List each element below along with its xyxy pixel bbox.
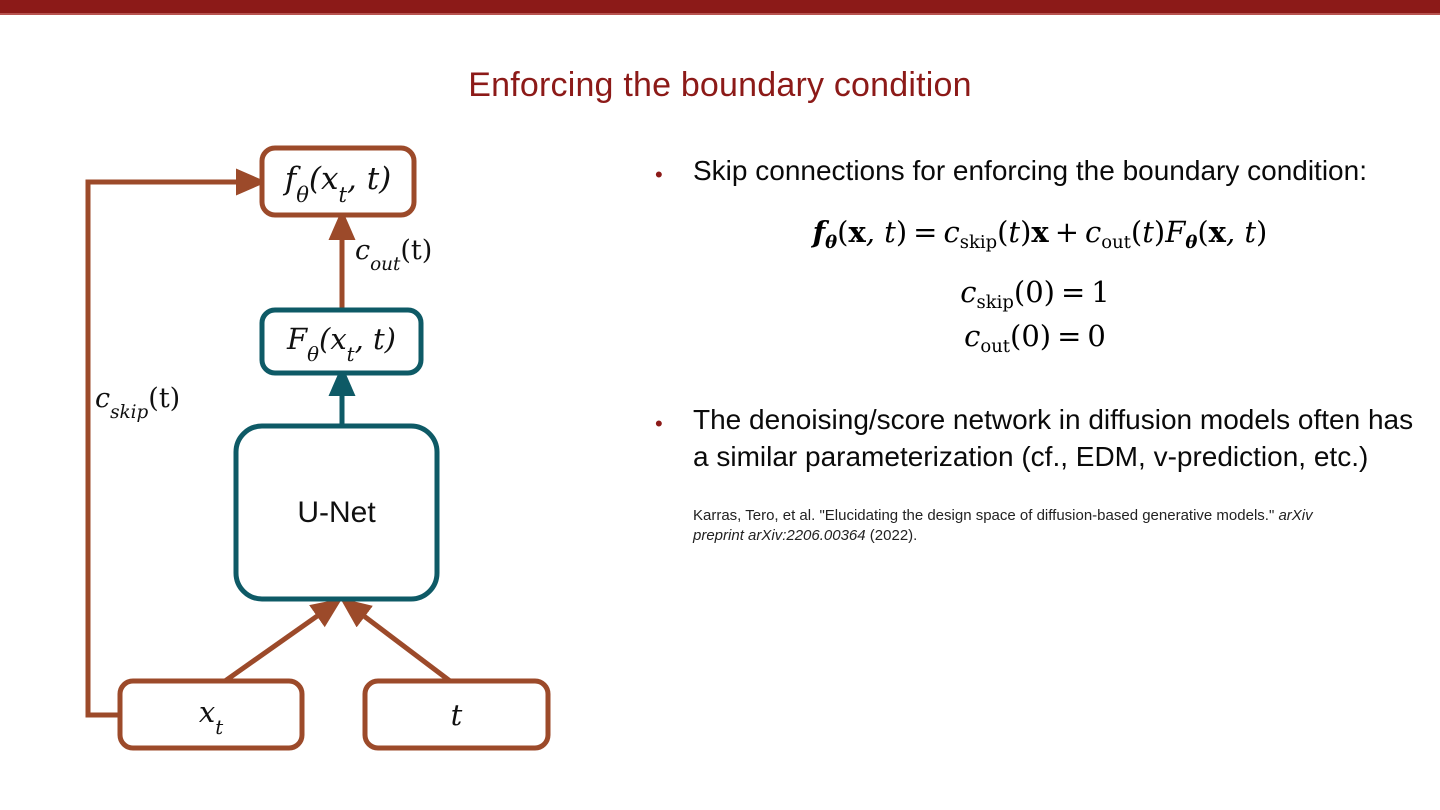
content-column: • Skip connections for enforcing the bou… (655, 152, 1415, 546)
equation-main: fθ(x, t)=cskip(t)x+cout(t)Fθ(x, t) (665, 215, 1415, 249)
node-unet-box (236, 426, 437, 599)
top-accent-bar (0, 0, 1440, 13)
diagram-svg (0, 130, 620, 780)
page-title: Enforcing the boundary condition (0, 66, 1440, 105)
edge-skip-path (88, 182, 120, 715)
bullet-dot-icon: • (655, 401, 693, 435)
node-f-theta-box (262, 148, 414, 215)
bullet-dot-icon: • (655, 152, 693, 186)
edge-label-c-skip: cskip(t) (95, 383, 180, 418)
edge-t-to-unet (352, 607, 450, 681)
bullet-1-text: Skip connections for enforcing the bound… (693, 152, 1415, 189)
edge-label-c-out: cout(t) (355, 235, 432, 270)
bullet-item-2: • The denoising/score network in diffusi… (655, 401, 1415, 475)
citation-text: Karras, Tero, et al. "Elucidating the de… (693, 506, 1343, 547)
equation-c-skip-zero: cskip(0)=1 (655, 275, 1415, 309)
citation-part2: (2022). (866, 527, 918, 544)
node-F-theta-box (262, 310, 421, 373)
node-t-box (365, 681, 548, 748)
edge-xt-to-unet (225, 607, 330, 681)
top-accent-bar-thin (0, 13, 1440, 15)
equation-c-out-zero: cout(0)=0 (655, 319, 1415, 353)
architecture-diagram: fθ(xt, t) Fθ(xt, t) U-Net xt t cout(t) c… (0, 130, 620, 780)
citation-part1: Karras, Tero, et al. "Elucidating the de… (693, 507, 1278, 524)
slide-root: Enforcing the boundary condition (0, 0, 1440, 810)
bullet-2-text: The denoising/score network in diffusion… (693, 401, 1415, 475)
node-xt-box (120, 681, 302, 748)
bullet-item-1: • Skip connections for enforcing the bou… (655, 152, 1415, 189)
